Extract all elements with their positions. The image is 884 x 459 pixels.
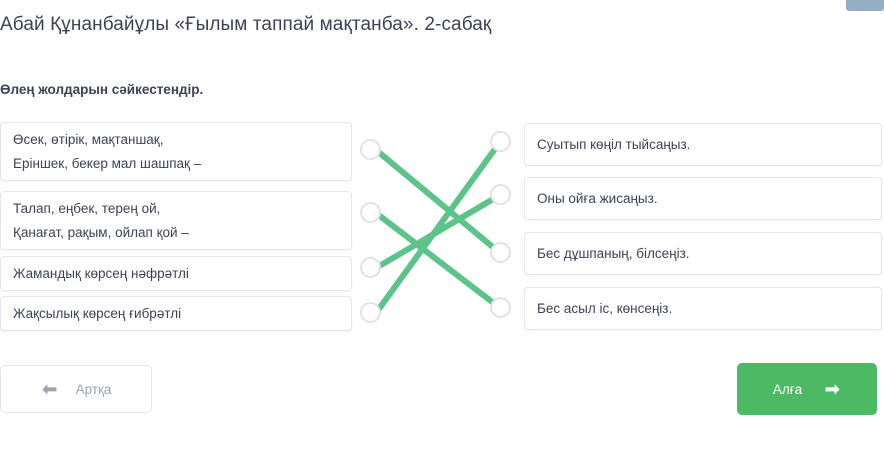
arrow-right-icon [824, 383, 841, 396]
right-card-2-text: Оны ойға жисаңыз. [537, 187, 869, 211]
left-card-2-line-1: Талап, еңбек, терең ой, [13, 197, 339, 221]
instruction-text: Өлең жолдарын сәйкестендір. [0, 82, 203, 97]
right-node-4[interactable] [490, 297, 511, 318]
left-node-4[interactable] [360, 302, 381, 323]
right-card-3-text: Бес дұшпаның, білсеңіз. [537, 242, 869, 266]
right-card-4[interactable]: Бес асыл іс, көнсеңіз. [524, 287, 882, 330]
left-card-1-line-2: Еріншек, бекер мал шашпақ – [13, 152, 339, 176]
left-card-1-line-1: Өсек, өтірік, мақтаншақ, [13, 128, 339, 152]
right-card-3[interactable]: Бес дұшпаның, білсеңіз. [524, 232, 882, 275]
right-card-2[interactable]: Оны ойға жисаңыз. [524, 177, 882, 220]
left-card-4-line-1: Жақсылық көрсең ғибрәтлі [13, 302, 339, 326]
left-node-3[interactable] [360, 257, 381, 278]
back-button[interactable]: Артқа [0, 365, 152, 413]
left-card-4[interactable]: Жақсылық көрсең ғибрәтлі [0, 296, 352, 331]
right-node-3[interactable] [490, 242, 511, 263]
top-right-tab [846, 0, 884, 11]
left-card-2[interactable]: Талап, еңбек, терең ой, Қанағат, рақым, … [0, 191, 352, 250]
right-node-2[interactable] [490, 184, 511, 205]
next-button[interactable]: Алға [737, 363, 877, 415]
right-card-1-text: Суытып көңіл тыйсаңыз. [537, 133, 869, 157]
arrow-left-icon [41, 383, 58, 396]
left-node-1[interactable] [360, 139, 381, 160]
right-card-4-text: Бес асыл іс, көнсеңіз. [537, 297, 869, 321]
page-title: Абай Құнанбайұлы «Ғылым таппай мақтанба»… [0, 14, 491, 36]
connector-lines [352, 118, 524, 334]
left-card-3[interactable]: Жамандық көрсең нәфрәтлі [0, 256, 352, 291]
left-card-2-line-2: Қанағат, рақым, ойлап қой – [13, 221, 339, 245]
left-card-3-line-1: Жамандық көрсең нәфрәтлі [13, 262, 339, 286]
next-button-label: Алға [773, 382, 802, 397]
right-card-1[interactable]: Суытып көңіл тыйсаңыз. [524, 123, 882, 166]
left-card-1[interactable]: Өсек, өтірік, мақтаншақ, Еріншек, бекер … [0, 122, 352, 181]
matching-exercise: Өсек, өтірік, мақтаншақ, Еріншек, бекер … [0, 118, 884, 334]
back-button-label: Артқа [76, 382, 112, 397]
right-node-1[interactable] [490, 131, 511, 152]
left-node-2[interactable] [360, 202, 381, 223]
